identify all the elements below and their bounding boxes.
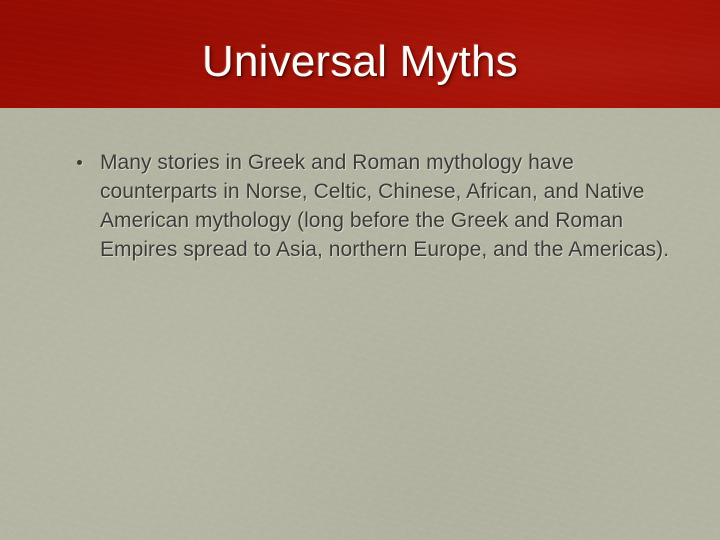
bullet-dot-icon	[77, 160, 82, 165]
bullet-list-item: Many stories in Greek and Roman mytholog…	[70, 148, 680, 264]
slide-body: Many stories in Greek and Roman mytholog…	[70, 148, 680, 264]
title-banner: Universal Myths	[0, 0, 720, 108]
bullet-item-text: Many stories in Greek and Roman mytholog…	[100, 148, 680, 264]
slide-title: Universal Myths	[0, 36, 720, 88]
presentation-slide: Universal Myths Many stories in Greek an…	[0, 0, 720, 540]
